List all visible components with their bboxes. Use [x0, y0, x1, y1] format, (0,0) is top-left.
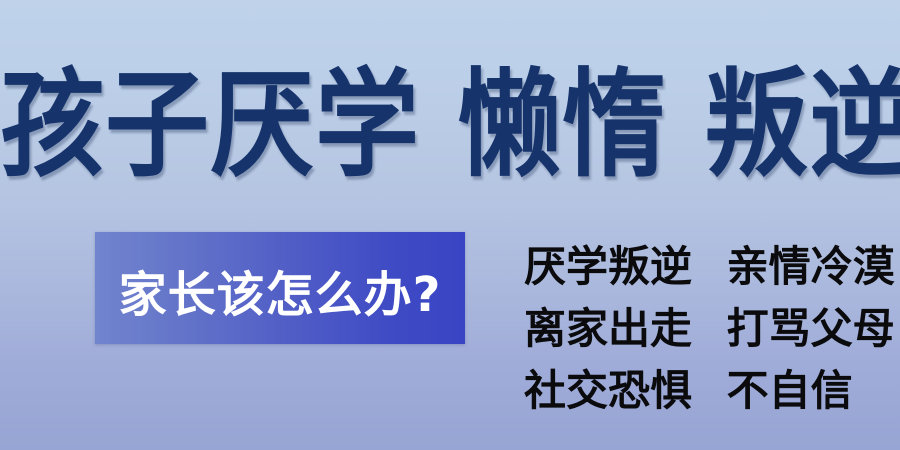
- symptom-label-left: 厌学叛逆: [524, 242, 692, 291]
- symptom-label-right: 亲情冷漠: [727, 242, 895, 291]
- list-item: 社交恐惧 不自信: [524, 360, 900, 422]
- page-title: 孩子厌学 懒惰 叛逆: [0, 52, 900, 198]
- poster-canvas: 孩子厌学 懒惰 叛逆 家长该怎么办? 厌学叛逆 亲情冷漠 离家出走 打骂父母 社…: [0, 0, 900, 450]
- symptom-label-right: 不自信: [727, 366, 853, 415]
- status-badge-label: 家长该怎么办?: [95, 234, 465, 346]
- list-item: 厌学叛逆 亲情冷漠: [524, 236, 900, 298]
- symptom-list: 厌学叛逆 亲情冷漠 离家出走 打骂父母 社交恐惧 不自信: [524, 236, 900, 422]
- symptom-label-left: 离家出走: [524, 304, 692, 353]
- symptom-label-right: 打骂父母: [727, 304, 895, 353]
- list-item: 离家出走 打骂父母: [524, 298, 900, 360]
- status-badge: 家长该怎么办?: [95, 232, 465, 344]
- symptom-label-left: 社交恐惧: [524, 366, 692, 415]
